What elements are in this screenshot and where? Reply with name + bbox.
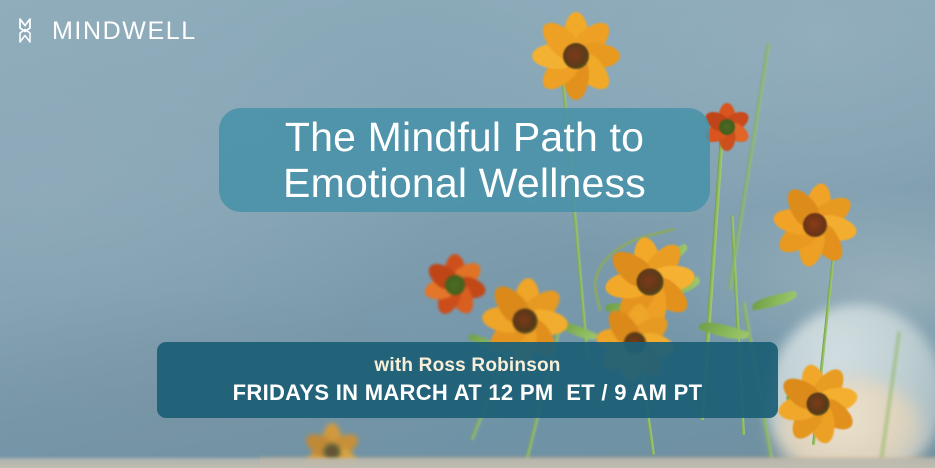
flower-bloom: [420, 250, 490, 320]
mindwell-diamond-mark-icon: [17, 16, 43, 46]
ground-strip: [0, 456, 935, 468]
details-banner: with Ross Robinson FRIDAYS IN MARCH AT 1…: [157, 342, 778, 418]
title-banner: The Mindful Path to Emotional Wellness: [219, 108, 710, 212]
flower-bloom: [768, 178, 862, 272]
brand-logo[interactable]: MINDWELL: [17, 16, 197, 46]
flower-bloom: [774, 360, 862, 448]
flower-bloom: [528, 8, 624, 104]
page-title: The Mindful Path to Emotional Wellness: [283, 114, 646, 207]
schedule-text: FRIDAYS IN MARCH AT 12 PM ET / 9 AM PT: [233, 380, 703, 406]
webinar-promo-graphic: MINDWELL The Mindful Path to Emotional W…: [0, 0, 935, 468]
brand-wordmark: MINDWELL: [52, 17, 197, 46]
host-name: with Ross Robinson: [374, 355, 560, 377]
